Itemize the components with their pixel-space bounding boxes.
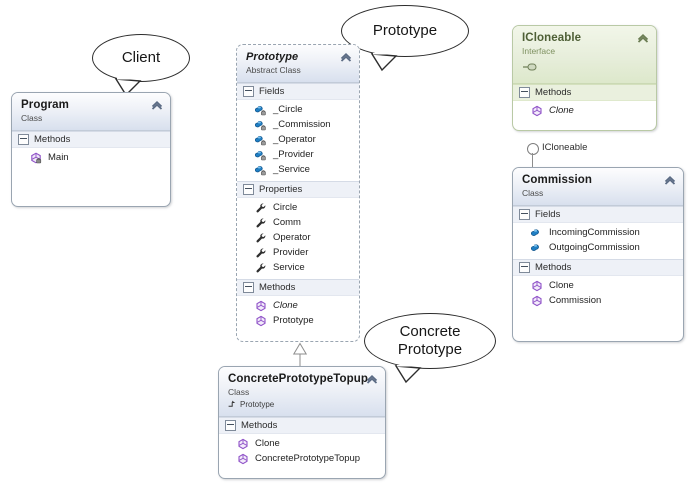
property-icon xyxy=(255,217,267,229)
class-stereotype-program: Class xyxy=(21,113,162,124)
class-header-program: Program Class xyxy=(12,93,170,131)
member-row[interactable]: Prototype xyxy=(237,313,359,328)
class-name-commission: Commission xyxy=(522,174,675,187)
member-list-methods: Clone ConcretePrototypeTopup xyxy=(219,434,385,470)
method-icon xyxy=(531,280,543,292)
member-label: _Operator xyxy=(273,133,316,146)
expander-icon[interactable] xyxy=(18,134,29,145)
class-stereotype-concrete-prototype-topup: Class xyxy=(228,387,377,398)
member-list-fields: IncomingCommission OutgoingCommission xyxy=(513,223,683,259)
section-header-methods[interactable]: Methods xyxy=(12,131,170,148)
method-icon xyxy=(255,315,267,327)
member-row[interactable]: Clone xyxy=(219,436,385,451)
class-header-prototype: Prototype Abstract Class xyxy=(237,45,359,83)
callout-concrete-prototype-line2: Prototype xyxy=(398,341,462,359)
member-label: Comm xyxy=(273,216,301,229)
member-list-fields: _Circle _Commission xyxy=(237,100,359,181)
method-icon xyxy=(237,438,249,450)
method-icon xyxy=(237,453,249,465)
member-row[interactable]: Main xyxy=(12,150,170,165)
collapse-chevron-icon[interactable] xyxy=(151,99,163,111)
member-label: Prototype xyxy=(273,314,314,327)
connector-inheritance xyxy=(290,342,310,368)
class-stereotype-prototype: Abstract Class xyxy=(246,65,351,76)
member-row[interactable]: Clone xyxy=(513,278,683,293)
member-row[interactable]: OutgoingCommission xyxy=(513,240,683,255)
class-stereotype-commission: Class xyxy=(522,188,675,199)
section-label: Methods xyxy=(535,87,571,98)
member-label: _Commission xyxy=(273,118,331,131)
callout-tail-icon xyxy=(394,365,434,385)
member-label: Clone xyxy=(549,279,574,292)
member-label: Clone xyxy=(549,104,574,117)
field-icon xyxy=(255,119,267,131)
collapse-chevron-icon[interactable] xyxy=(366,373,378,385)
expander-icon[interactable] xyxy=(243,282,254,293)
member-row[interactable]: Commission xyxy=(513,293,683,308)
callout-tail-icon xyxy=(370,53,410,73)
member-list-properties: Circle Comm Operator xyxy=(237,198,359,279)
member-row[interactable]: Provider xyxy=(237,245,359,260)
property-icon xyxy=(255,262,267,274)
field-icon xyxy=(531,227,543,239)
member-list-methods: Clone xyxy=(513,101,656,122)
section-label: Fields xyxy=(259,86,284,97)
class-header-commission: Commission Class xyxy=(513,168,683,206)
field-icon xyxy=(531,242,543,254)
callout-concrete-prototype-line1: Concrete xyxy=(400,323,461,341)
member-label: IncomingCommission xyxy=(549,226,640,239)
callout-client-label: Client xyxy=(122,49,160,67)
section-label: Fields xyxy=(535,209,560,220)
collapse-chevron-icon[interactable] xyxy=(340,51,352,63)
section-header-fields[interactable]: Fields xyxy=(237,83,359,100)
expander-icon[interactable] xyxy=(519,209,530,220)
field-icon xyxy=(255,149,267,161)
field-icon xyxy=(255,104,267,116)
section-header-methods[interactable]: Methods xyxy=(513,84,656,101)
method-icon xyxy=(531,105,543,117)
expander-icon[interactable] xyxy=(225,420,236,431)
interface-lollipop-icon xyxy=(522,62,538,72)
member-label: Operator xyxy=(273,231,311,244)
class-base-row: Prototype xyxy=(228,399,377,410)
section-header-properties[interactable]: Properties xyxy=(237,181,359,198)
member-label: Provider xyxy=(273,246,308,259)
member-label: ConcretePrototypeTopup xyxy=(255,452,360,465)
method-icon xyxy=(531,295,543,307)
interface-stereotype: Interface xyxy=(522,46,648,57)
section-header-methods[interactable]: Methods xyxy=(219,417,385,434)
section-label: Methods xyxy=(241,420,277,431)
member-row[interactable]: Circle xyxy=(237,200,359,215)
interface-header-icloneable: ICloneable Interface xyxy=(513,26,656,84)
class-base-label: Prototype xyxy=(240,399,274,410)
property-icon xyxy=(255,232,267,244)
interface-box-icloneable[interactable]: ICloneable Interface Methods xyxy=(512,25,657,131)
member-row[interactable]: _Provider xyxy=(237,147,359,162)
member-label: Circle xyxy=(273,201,297,214)
section-label: Methods xyxy=(34,134,70,145)
section-header-methods[interactable]: Methods xyxy=(237,279,359,296)
method-icon xyxy=(30,152,42,164)
member-label: Clone xyxy=(273,299,298,312)
class-name-program: Program xyxy=(21,99,162,112)
member-label: Commission xyxy=(549,294,601,307)
member-label: Clone xyxy=(255,437,280,450)
member-list-methods: Clone Commission xyxy=(513,276,683,312)
expander-icon[interactable] xyxy=(519,87,530,98)
member-list-methods: Clone Prototype xyxy=(237,296,359,332)
member-list-methods: Main xyxy=(12,148,170,169)
member-row[interactable]: _Circle xyxy=(237,102,359,117)
field-icon xyxy=(255,164,267,176)
class-box-prototype[interactable]: Prototype Abstract Class Fields xyxy=(236,44,360,342)
member-row[interactable]: Operator xyxy=(237,230,359,245)
collapse-chevron-icon[interactable] xyxy=(664,174,676,186)
uml-diagram-canvas: Client Prototype Concrete Prototype Prog… xyxy=(0,0,700,485)
member-label: _Service xyxy=(273,163,310,176)
callout-prototype-label: Prototype xyxy=(373,22,437,40)
member-label: OutgoingCommission xyxy=(549,241,640,254)
section-header-methods[interactable]: Methods xyxy=(513,259,683,276)
collapse-chevron-icon[interactable] xyxy=(637,32,649,44)
property-icon xyxy=(255,247,267,259)
class-name-concrete-prototype-topup: ConcretePrototypeTopup xyxy=(228,373,377,386)
inheritance-arrow-icon xyxy=(228,400,237,409)
callout-prototype: Prototype xyxy=(341,5,469,57)
class-header-concrete-prototype-topup: ConcretePrototypeTopup Class Prototype xyxy=(219,367,385,417)
member-row[interactable]: ConcretePrototypeTopup xyxy=(219,451,385,466)
callout-client: Client xyxy=(92,34,190,82)
member-label: _Circle xyxy=(273,103,303,116)
expander-icon[interactable] xyxy=(243,184,254,195)
member-row[interactable]: Clone xyxy=(237,298,359,313)
property-icon xyxy=(255,202,267,214)
callout-concrete-prototype: Concrete Prototype xyxy=(364,313,496,369)
member-row[interactable]: Comm xyxy=(237,215,359,230)
member-label: Main xyxy=(48,151,69,164)
class-box-commission[interactable]: Commission Class Fields IncomingCommissi… xyxy=(512,167,684,342)
lollipop-circle-icon xyxy=(527,143,539,155)
expander-icon[interactable] xyxy=(243,86,254,97)
section-header-fields[interactable]: Fields xyxy=(513,206,683,223)
member-row[interactable]: Clone xyxy=(513,103,656,118)
member-label: Service xyxy=(273,261,305,274)
class-box-program[interactable]: Program Class Methods xyxy=(11,92,171,207)
member-label: _Provider xyxy=(273,148,314,161)
section-label: Methods xyxy=(259,282,295,293)
member-row[interactable]: IncomingCommission xyxy=(513,225,683,240)
section-label: Properties xyxy=(259,184,302,195)
class-name-prototype: Prototype xyxy=(246,51,351,64)
expander-icon[interactable] xyxy=(519,262,530,273)
member-row[interactable]: _Service xyxy=(237,162,359,177)
member-row[interactable]: Service xyxy=(237,260,359,275)
interface-name-icloneable: ICloneable xyxy=(522,32,648,45)
member-row[interactable]: _Operator xyxy=(237,132,359,147)
field-icon xyxy=(255,134,267,146)
lollipop-label: ICloneable xyxy=(542,142,587,153)
member-row[interactable]: _Commission xyxy=(237,117,359,132)
method-icon xyxy=(255,300,267,312)
class-box-concrete-prototype-topup[interactable]: ConcretePrototypeTopup Class Prototype M… xyxy=(218,366,386,479)
section-label: Methods xyxy=(535,262,571,273)
